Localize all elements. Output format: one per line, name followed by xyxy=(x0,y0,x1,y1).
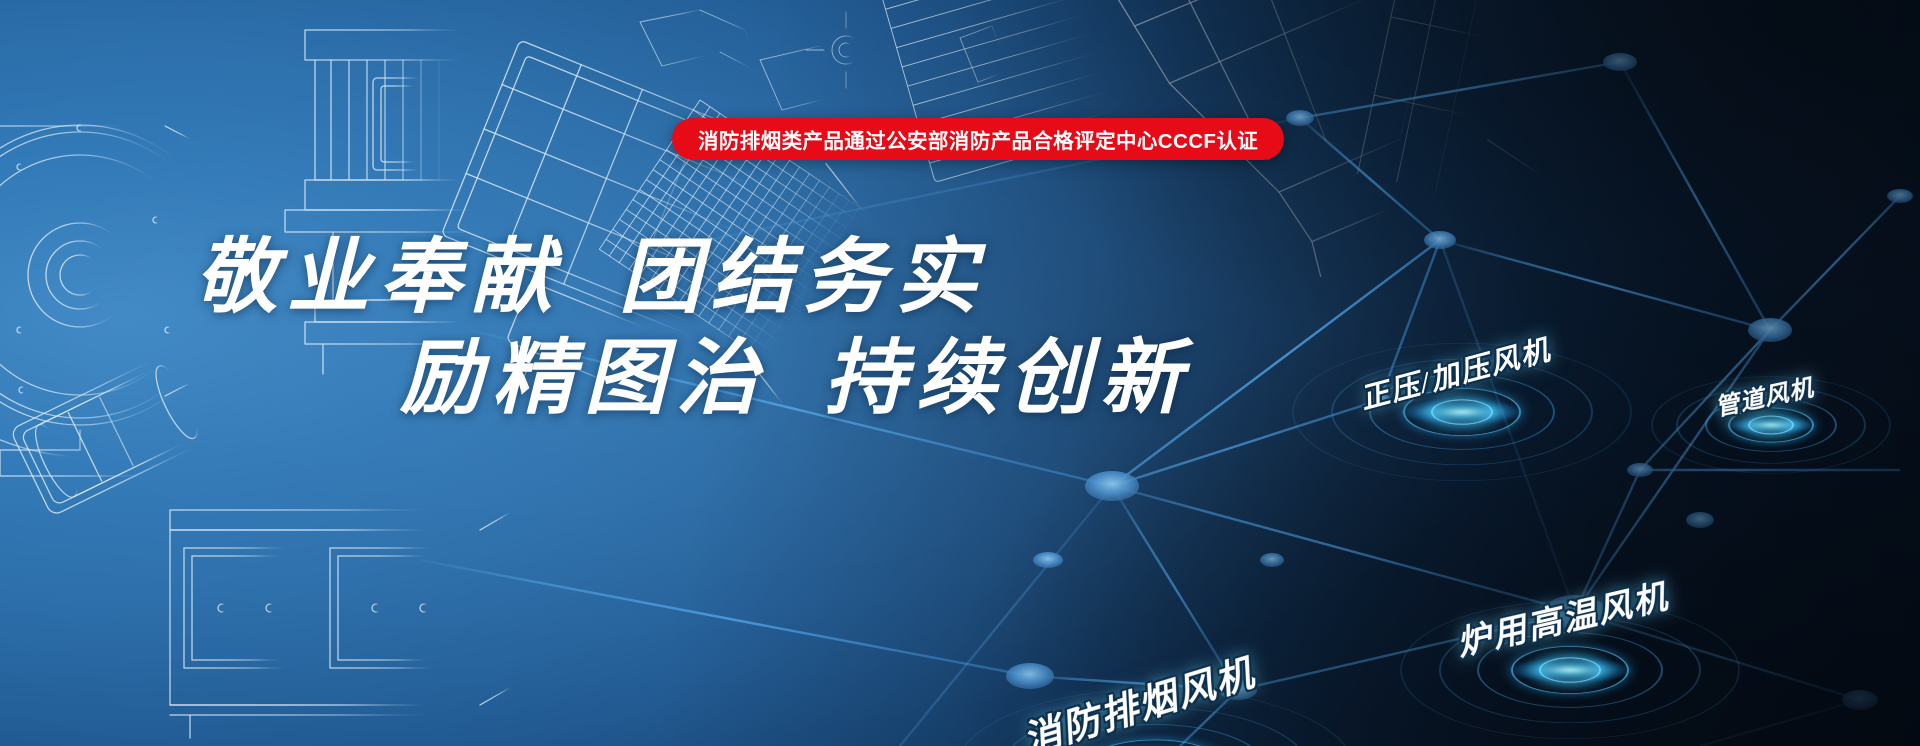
certification-banner: 消防排烟类产品通过公安部消防产品合格评定中心CCCF认证 xyxy=(672,118,1284,160)
blueprint-stack-tower xyxy=(1358,0,1655,223)
blueprint-air-handling-unit xyxy=(150,500,530,738)
slogan-1b: 团结务实 xyxy=(619,232,987,323)
slogan-1a: 敬业奉献 xyxy=(195,232,563,323)
blueprint-detail-brackets xyxy=(640,10,1010,110)
hero-banner: 正压/加压风机 管道风机 炉用高温风机 xyxy=(0,0,1920,746)
slogan-line-1: 敬业奉献团结务实 xyxy=(0,230,1150,327)
slogan-block: 敬业奉献团结务实 励精图治持续创新 xyxy=(0,230,1150,428)
certification-text: 消防排烟类产品通过公安部消防产品合格评定中心CCCF认证 xyxy=(698,124,1258,154)
slogan-2a: 励精图治 xyxy=(400,333,768,424)
product-hotspot-zhengya[interactable]: 正压/加压风机 xyxy=(1282,312,1642,512)
product-hotspot-luyong[interactable]: 炉用高温风机 xyxy=(1370,560,1770,746)
blueprint-grille-panel xyxy=(880,0,1204,207)
product-hotspot-xiaofang[interactable]: 消防排烟风机 xyxy=(940,650,1370,746)
slogan-2b: 持续创新 xyxy=(824,333,1192,424)
product-hotspot-guandao[interactable]: 管道风机 xyxy=(1646,350,1896,500)
slogan-line-2: 励精图治持续创新 xyxy=(0,331,1150,428)
